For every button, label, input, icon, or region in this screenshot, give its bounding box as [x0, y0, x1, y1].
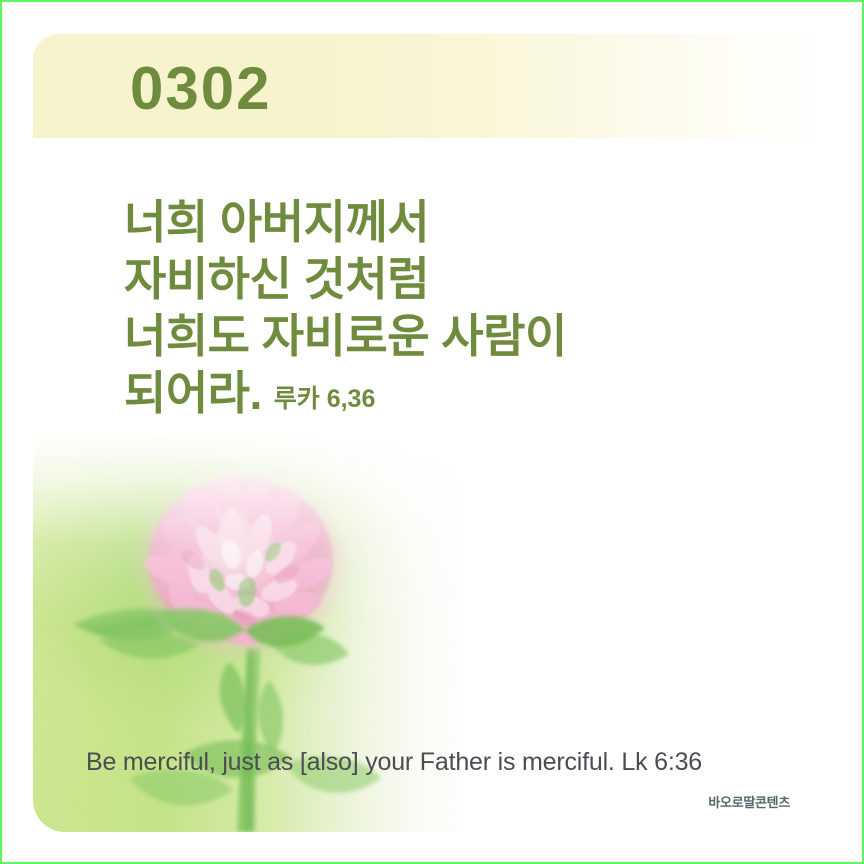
korean-verse-reference: 루카 6,36: [274, 385, 376, 413]
devotional-card: 0302: [0, 0, 864, 864]
korean-verse-line-4-text: 되어라.: [124, 367, 262, 419]
korean-verse-line-2: 자비하신 것처럼: [124, 251, 824, 308]
korean-verse-line-1: 너희 아버지께서: [124, 194, 824, 251]
english-verse: Be merciful, just as [also] your Father …: [86, 748, 786, 777]
publisher-credit: 바오로딸콘텐츠: [708, 792, 790, 811]
date-banner: 0302: [33, 34, 864, 138]
korean-verse: 너희 아버지께서 자비하신 것처럼 너희도 자비로운 사람이 되어라.루카 6,…: [124, 194, 824, 428]
korean-verse-line-4: 되어라.루카 6,36: [124, 365, 824, 428]
date-number: 0302: [130, 37, 271, 141]
korean-verse-line-3: 너희도 자비로운 사람이: [124, 308, 824, 365]
